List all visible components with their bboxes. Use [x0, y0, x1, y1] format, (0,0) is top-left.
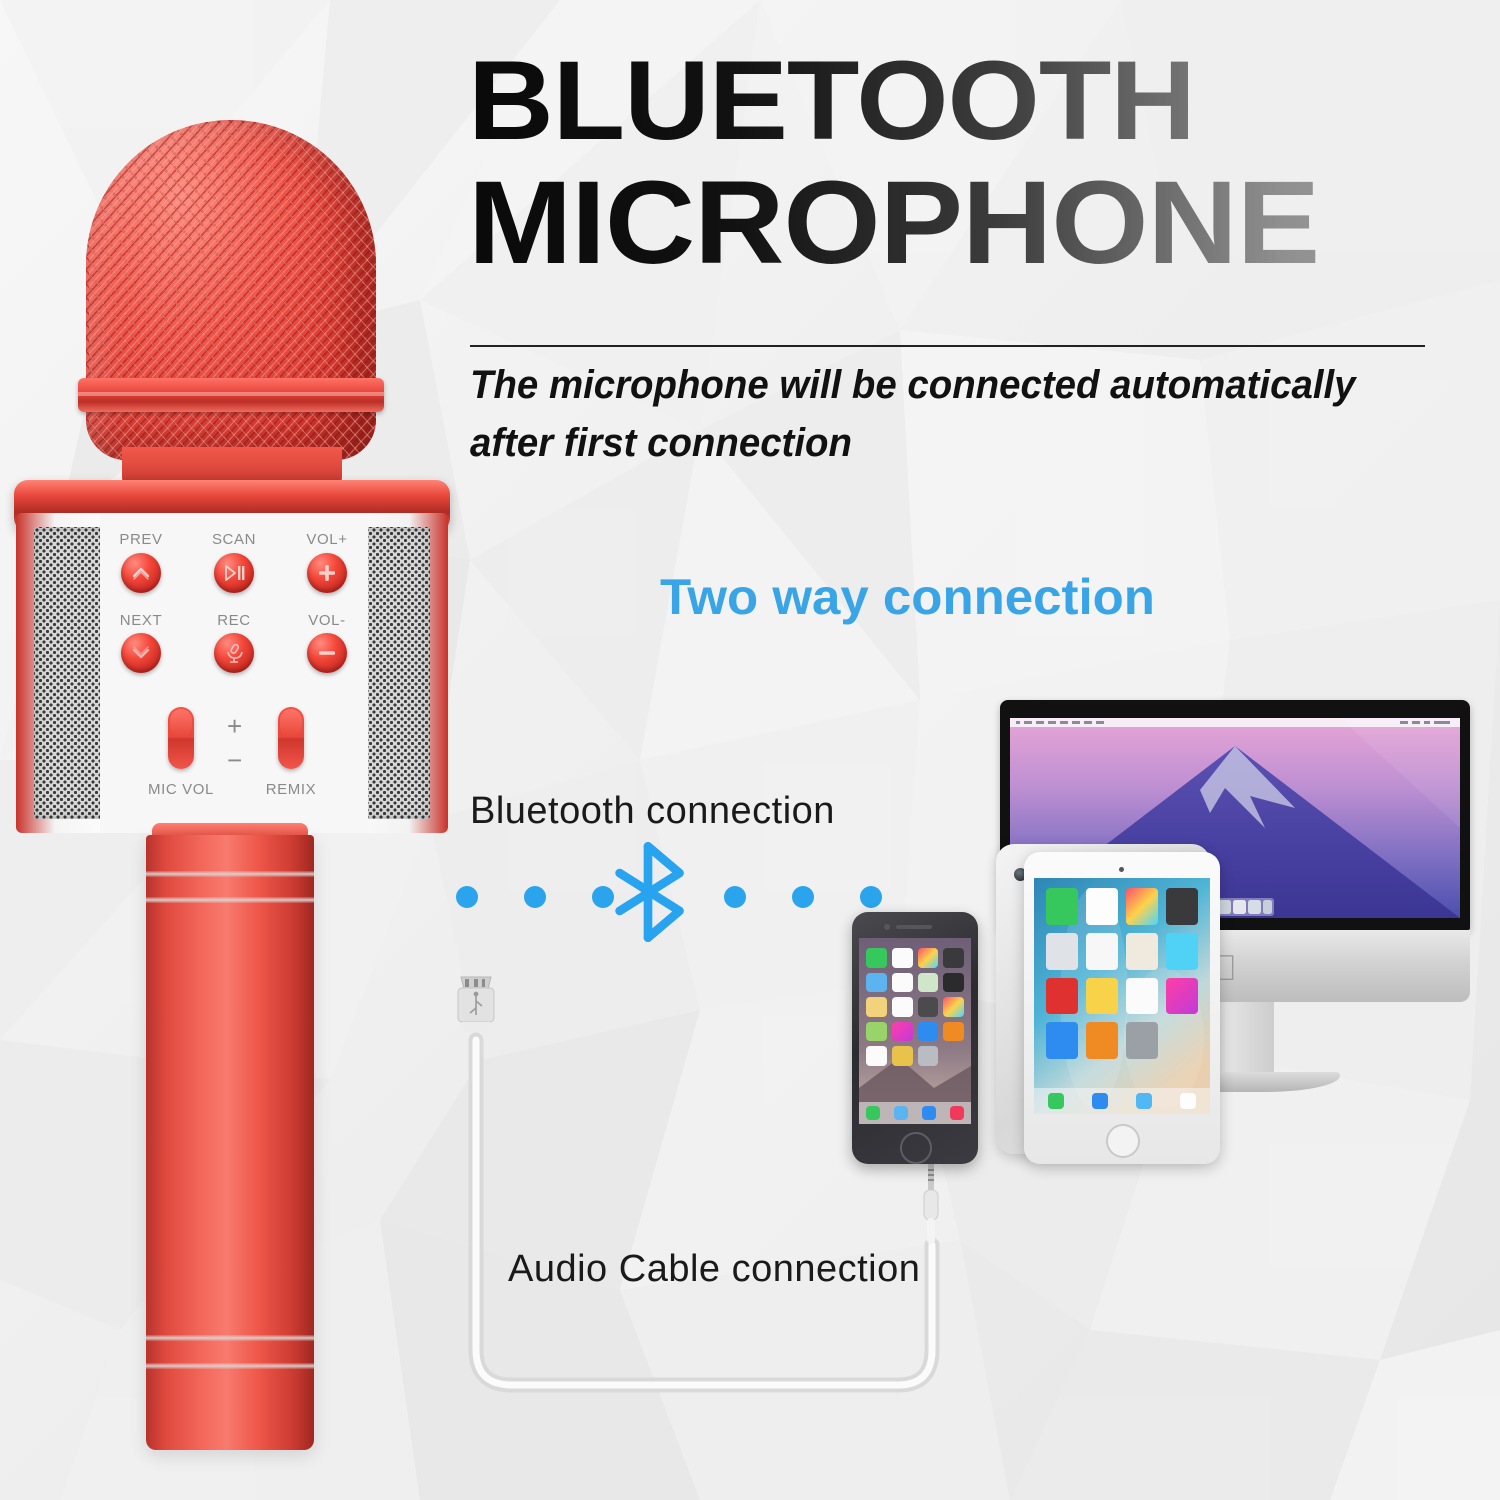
ipad-front-camera-icon [1119, 867, 1124, 872]
volume-down-button[interactable] [307, 633, 347, 673]
app-icon [866, 1071, 887, 1091]
chevron-down-icon [130, 642, 152, 664]
iphone-screen [859, 938, 971, 1124]
headline-block: BLUETOOTH MICROPHONE [468, 46, 1428, 281]
microphone-icon [223, 642, 245, 664]
microphone-handle [146, 835, 314, 1450]
iphone-front-camera-icon [884, 924, 890, 930]
two-way-connection-heading: Two way connection [660, 568, 1155, 626]
headline-divider [470, 345, 1425, 347]
app-icon [943, 1046, 964, 1066]
app-icon[interactable] [1086, 978, 1118, 1015]
app-icon[interactable] [866, 997, 887, 1017]
iphone-earpiece-icon [896, 925, 932, 929]
plus-icon [316, 562, 338, 584]
rec-button-label: REC [199, 612, 269, 629]
mic-vol-slider[interactable] [168, 707, 194, 769]
app-icon[interactable] [1046, 933, 1078, 970]
handle-ring [146, 1335, 314, 1341]
app-icon [943, 1071, 964, 1091]
ipad-home-button[interactable] [1106, 1124, 1140, 1158]
app-icon[interactable] [1166, 888, 1198, 925]
app-icon[interactable] [1046, 1022, 1078, 1059]
app-icon[interactable] [892, 1022, 913, 1042]
chevron-up-icon [130, 562, 152, 584]
decrease-mark: − [227, 745, 242, 776]
messages-app-icon[interactable] [1048, 1093, 1064, 1109]
headline-subtitle: The microphone will be connected automat… [470, 356, 1430, 472]
increase-mark: + [227, 711, 242, 742]
remix-slider[interactable] [278, 707, 304, 769]
bluetooth-dot [724, 886, 746, 908]
messages-app-icon[interactable] [894, 1106, 908, 1120]
app-icon[interactable] [918, 1022, 939, 1042]
product-marketing-image: BLUETOOTH MICROPHONE The microphone will… [0, 0, 1500, 1500]
app-icon[interactable] [866, 1022, 887, 1042]
volume-up-button[interactable] [307, 553, 347, 593]
app-icon[interactable] [1086, 1022, 1118, 1059]
app-icon[interactable] [892, 997, 913, 1017]
app-icon[interactable] [943, 948, 964, 968]
prev-button-label: PREV [106, 531, 176, 548]
scan-button-label: SCAN [199, 531, 269, 548]
app-icon[interactable] [892, 973, 913, 993]
ipad-front-body [1024, 852, 1220, 1164]
safari-app-icon[interactable] [922, 1106, 936, 1120]
bluetooth-connection-label: Bluetooth connection [470, 790, 835, 833]
bluetooth-dot [860, 886, 882, 908]
grille-band [78, 378, 384, 412]
app-icon[interactable] [1086, 888, 1118, 925]
tablet-device [996, 844, 1220, 1164]
music-app-icon[interactable] [950, 1106, 964, 1120]
iphone-dock [859, 1102, 971, 1124]
mail-app-icon[interactable] [1136, 1093, 1152, 1109]
handle-ring [146, 897, 314, 903]
app-icon[interactable] [1126, 888, 1158, 925]
app-icon[interactable] [866, 973, 887, 993]
app-icon[interactable] [866, 1046, 887, 1066]
app-icon[interactable] [892, 948, 913, 968]
app-icon[interactable] [918, 948, 939, 968]
next-button-label: NEXT [106, 612, 176, 629]
volup-button-label: VOL+ [292, 531, 362, 548]
app-icon[interactable] [1046, 978, 1078, 1015]
app-icon[interactable] [943, 973, 964, 993]
bluetooth-dot [524, 886, 546, 908]
safari-app-icon[interactable] [1092, 1093, 1108, 1109]
iphone-home-button[interactable] [900, 1132, 932, 1164]
music-app-icon[interactable] [1180, 1093, 1196, 1109]
app-icon[interactable] [1126, 1022, 1158, 1059]
scan-button[interactable] [214, 553, 254, 593]
prev-button[interactable] [121, 553, 161, 593]
voldown-button-label: VOL- [292, 612, 362, 629]
app-icon[interactable] [918, 1046, 939, 1066]
ipad-app-grid [1034, 878, 1210, 1114]
headline-line-1: BLUETOOTH [468, 46, 1486, 156]
app-icon [892, 1071, 913, 1091]
app-icon[interactable] [1166, 978, 1198, 1015]
app-icon[interactable] [943, 1022, 964, 1042]
app-icon[interactable] [892, 1046, 913, 1066]
app-icon[interactable] [1126, 933, 1158, 970]
rec-button[interactable] [214, 633, 254, 673]
app-icon[interactable] [1166, 933, 1198, 970]
app-icon [918, 1071, 939, 1091]
headphone-jack-icon [920, 1160, 942, 1246]
smartphone-device [852, 912, 978, 1164]
remix-slider-label: REMIX [256, 781, 326, 798]
minus-icon [316, 642, 338, 664]
bluetooth-dot [792, 886, 814, 908]
app-icon[interactable] [918, 973, 939, 993]
app-icon[interactable] [1086, 933, 1118, 970]
app-icon[interactable] [1126, 978, 1158, 1015]
microphone-control-panel: PREV SCAN VOL+ [100, 513, 368, 833]
handle-ring [146, 871, 314, 877]
app-icon[interactable] [943, 997, 964, 1017]
app-icon[interactable] [866, 948, 887, 968]
phone-app-icon[interactable] [866, 1106, 880, 1120]
ipad-screen [1034, 878, 1210, 1114]
app-icon[interactable] [1046, 888, 1078, 925]
app-icon[interactable] [918, 997, 939, 1017]
headline-line-2: MICROPHONE [468, 166, 1486, 282]
bluetooth-icon [600, 840, 696, 944]
mic-vol-slider-label: MIC VOL [146, 781, 216, 798]
app-icon [1166, 1022, 1198, 1059]
ipad-dock [1034, 1088, 1210, 1114]
handle-ring [146, 1363, 314, 1369]
audio-cable-connection-label: Audio Cable connection [508, 1248, 920, 1291]
iphone-app-grid [859, 938, 971, 1124]
bluetooth-microphone-product: PREV SCAN VOL+ [0, 95, 460, 1455]
play-pause-icon [223, 563, 245, 583]
next-button[interactable] [121, 633, 161, 673]
